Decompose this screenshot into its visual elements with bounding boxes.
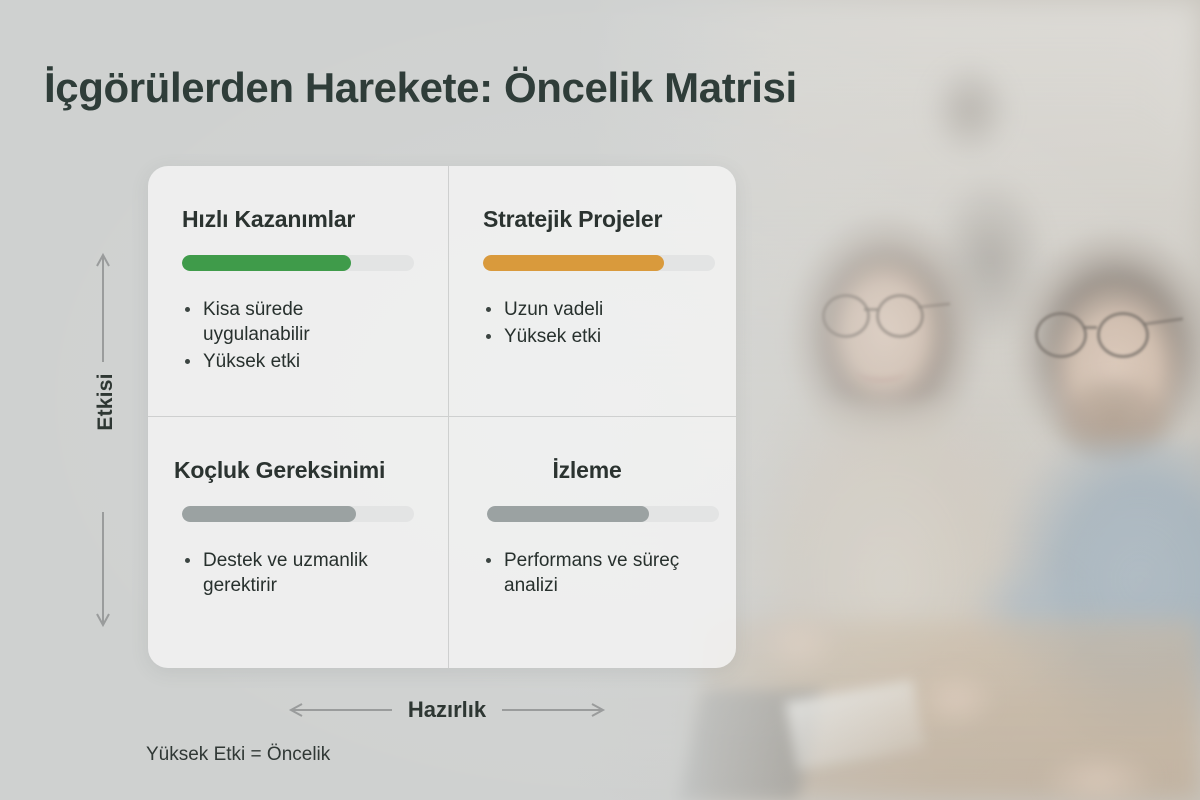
quadrant-title: Koçluk Gereksinimi — [174, 457, 414, 484]
quadrant-progress-fill — [182, 506, 356, 522]
quadrant-progress-fill — [483, 255, 664, 271]
quadrant-bullet-list: Kisa sürede uygulanabilir Yüksek etki — [182, 297, 414, 374]
quadrant-strategic-projects[interactable]: Stratejik Projeler Uzun vadeli Yüksek et… — [449, 166, 736, 417]
priority-matrix-card: Hızlı Kazanımlar Kisa sürede uygulanabil… — [148, 166, 736, 668]
quadrant-bullet-list: Uzun vadeli Yüksek etki — [483, 297, 719, 349]
arrow-left-icon — [284, 700, 394, 720]
x-axis-label: Hazırlık — [408, 697, 486, 723]
quadrant-progress-track — [182, 506, 414, 522]
quadrant-coaching-need[interactable]: Koçluk Gereksinimi Destek ve uzmanlik ge… — [148, 417, 449, 668]
quadrant-progress-track — [487, 506, 719, 522]
quadrant-progress-fill — [182, 255, 351, 271]
x-axis: Hazırlık — [252, 690, 642, 730]
list-item: Uzun vadeli — [483, 297, 719, 322]
list-item: Performans ve süreç analizi — [483, 548, 719, 598]
quadrant-quick-wins[interactable]: Hızlı Kazanımlar Kisa sürede uygulanabil… — [148, 166, 449, 417]
quadrant-title: İzleme — [483, 457, 719, 484]
list-item: Yüksek etki — [182, 349, 414, 374]
quadrant-bullet-list: Performans ve süreç analizi — [483, 548, 719, 598]
quadrant-title: Hızlı Kazanımlar — [182, 206, 414, 233]
y-axis: Etkisi — [80, 250, 126, 630]
quadrant-monitoring[interactable]: İzleme Performans ve süreç analizi — [449, 417, 736, 668]
quadrant-bullet-list: Destek ve uzmanlik gerektirir — [182, 548, 414, 598]
quadrant-progress-track — [483, 255, 715, 271]
quadrant-title: Stratejik Projeler — [483, 206, 719, 233]
list-item: Destek ve uzmanlik gerektirir — [182, 548, 414, 598]
list-item: Yüksek etki — [483, 324, 719, 349]
footnote: Yüksek Etki = Öncelik — [146, 744, 330, 766]
arrow-right-icon — [500, 700, 610, 720]
y-axis-label: Etkisi — [94, 352, 118, 452]
quadrant-progress-track — [182, 255, 414, 271]
page-title: İçgörülerden Harekete: Öncelik Matrisi — [44, 64, 797, 112]
list-item: Kisa sürede uygulanabilir — [182, 297, 414, 347]
quadrant-progress-fill — [487, 506, 649, 522]
